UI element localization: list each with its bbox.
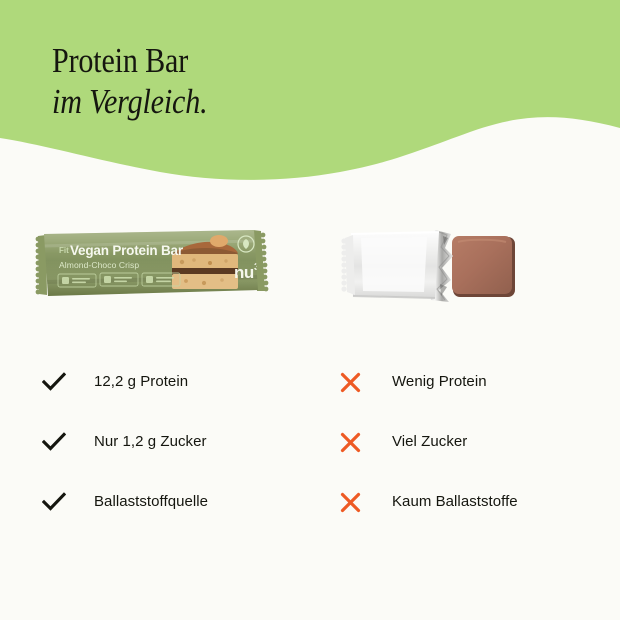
feature-row: Wenig Protein — [340, 352, 620, 412]
feature-label: Nur 1,2 g Zucker — [94, 432, 207, 452]
title-line-primary: Protein Bar — [52, 41, 413, 81]
feature-label: Kaum Ballaststoffe — [392, 492, 518, 512]
cross-icon — [340, 492, 370, 513]
check-icon — [42, 492, 72, 512]
cross-icon — [340, 372, 370, 393]
svg-text:nu: nu — [234, 263, 254, 282]
chocolate-block — [452, 236, 515, 297]
feature-row: Viel Zucker — [340, 412, 620, 472]
feature-label: Viel Zucker — [392, 432, 467, 452]
comparison-graphic: Protein Bar im Vergleich. — [0, 0, 620, 620]
wrapper-flavour-text: Almond-Choco Crisp — [59, 260, 139, 270]
feature-label: 12,2 g Protein — [94, 372, 188, 392]
title-line-secondary: im Vergleich. — [52, 81, 413, 123]
feature-row: Nur 1,2 g Zucker — [42, 412, 322, 472]
wrapper-headline-text: Vegan Protein Bar — [70, 243, 184, 258]
feature-row: Ballaststoffquelle — [42, 472, 322, 532]
feature-label: Ballaststoffquelle — [94, 492, 208, 512]
product-image-competitor-bar — [327, 212, 597, 332]
feature-column-competitor: Wenig Protein Viel Zucker Kaum Ballastst… — [340, 352, 620, 532]
cross-icon — [340, 432, 370, 453]
competitor-left-crimp — [341, 235, 355, 295]
check-icon — [42, 372, 72, 392]
feature-row: Kaum Ballaststoffe — [340, 472, 620, 532]
wrapper-eyebrow-text: Fit — [59, 246, 69, 255]
page-title: Protein Bar im Vergleich. — [52, 41, 472, 123]
check-icon — [42, 432, 72, 452]
feature-comparison: 12,2 g Protein Nur 1,2 g Zucker Ballasts… — [0, 352, 620, 532]
product-comparison-images: nu 3 Fit Vegan Protein Bar Almond-Choco … — [0, 212, 620, 332]
feature-label: Wenig Protein — [392, 372, 487, 392]
feature-row: 12,2 g Protein — [42, 352, 322, 412]
product-image-nu3-bar: nu 3 Fit Vegan Protein Bar Almond-Choco … — [22, 212, 292, 332]
feature-column-nu3: 12,2 g Protein Nur 1,2 g Zucker Ballasts… — [42, 352, 322, 532]
competitor-wrapper-panel — [361, 237, 427, 292]
